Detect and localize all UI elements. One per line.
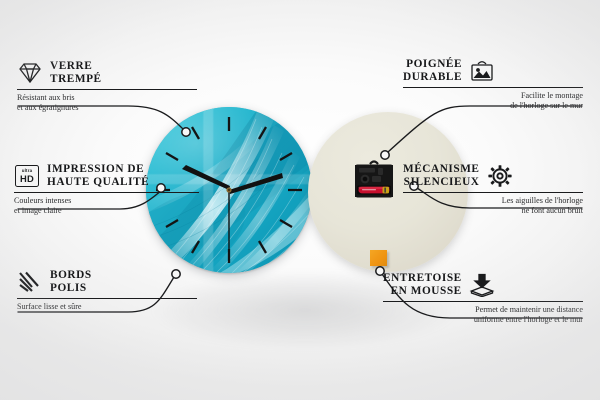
feature-rule	[17, 89, 197, 90]
feature-impression-haute-qualite: ultra HD IMPRESSION DE HAUTE QUALITÉ Cou…	[14, 163, 199, 215]
feature-desc-line2: ne font aucun bruit	[522, 206, 583, 215]
feature-title-line1: POIGNÉE	[406, 58, 462, 70]
connector-poignee	[388, 106, 582, 152]
feature-rule	[14, 192, 199, 193]
feature-verre-trempe: VERRE TREMPÉ Résistant aux bris et aux é…	[17, 60, 197, 112]
feature-desc-line1: Couleurs intenses	[14, 196, 71, 205]
feature-bords-polis: BORDS POLIS Surface lisse et sûre	[17, 269, 197, 312]
feature-rule	[17, 298, 197, 299]
diamond-icon	[17, 60, 43, 86]
ultra-hd-badge-icon: ultra HD	[14, 163, 40, 189]
feature-desc-line1: Permet de maintenir une distance	[475, 305, 583, 314]
feature-title-line2: DURABLE	[403, 71, 462, 83]
feature-description: Couleurs intenses et image claire	[14, 196, 199, 215]
feature-title-line2: TREMPÉ	[50, 73, 102, 85]
feature-description: Surface lisse et sûre	[17, 302, 197, 312]
feature-description: Résistant aux bris et aux égratignures	[17, 93, 197, 112]
hd-badge-main-label: HD	[20, 174, 34, 183]
feature-entretoise-en-mousse: ENTRETOISE EN MOUSSE Permet de maintenir…	[383, 272, 583, 324]
feature-desc-line2: et image claire	[14, 206, 62, 215]
feature-title-line2: EN MOUSSE	[391, 285, 462, 297]
infographic-canvas: VERRE TREMPÉ Résistant aux bris et aux é…	[0, 0, 600, 400]
feature-title-line2: POLIS	[50, 282, 87, 294]
feature-title: MÉCANISME SILENCIEUX	[403, 163, 480, 188]
feature-title-line1: VERRE	[50, 60, 92, 72]
marker-poignee	[381, 151, 389, 159]
feature-desc-line2: de l'horloge sur le mur	[510, 101, 583, 110]
feature-desc-line2: et aux égratignures	[17, 103, 79, 112]
polished-edges-icon	[17, 269, 43, 295]
feature-description: Permet de maintenir une distance uniform…	[383, 305, 583, 324]
feature-title: VERRE TREMPÉ	[50, 60, 102, 85]
feature-desc-line1: Résistant aux bris	[17, 93, 75, 102]
feature-title-line1: IMPRESSION DE	[47, 163, 144, 175]
feature-title-line2: SILENCIEUX	[404, 176, 480, 188]
gear-icon	[487, 163, 513, 189]
feature-rule	[403, 192, 583, 193]
feature-desc-line2: uniforme entre l'horloge et le mur	[474, 315, 583, 324]
feature-rule	[383, 301, 583, 302]
foam-spacer-arrow-icon	[469, 272, 495, 298]
feature-mecanisme-silencieux: MÉCANISME SILENCIEUX Les aiguilles de l'…	[403, 163, 583, 215]
feature-description: Facilite le montage de l'horloge sur le …	[403, 91, 583, 110]
feature-desc-line1: Surface lisse et sûre	[17, 302, 82, 311]
feature-description: Les aiguilles de l'horloge ne font aucun…	[403, 196, 583, 215]
feature-title: IMPRESSION DE HAUTE QUALITÉ	[47, 163, 149, 188]
feature-poignee-durable: POIGNÉE DURABLE Facilite le montage de l…	[403, 58, 583, 110]
feature-title: POIGNÉE DURABLE	[403, 58, 462, 83]
picture-hanger-icon	[469, 58, 495, 84]
feature-desc-line1: Facilite le montage	[521, 91, 583, 100]
feature-title-line1: ENTRETOISE	[383, 272, 462, 284]
feature-rule	[403, 87, 583, 88]
marker-verre-trempe	[182, 128, 190, 136]
feature-title-line2: HAUTE QUALITÉ	[47, 176, 149, 188]
feature-title: BORDS POLIS	[50, 269, 92, 294]
feature-title: ENTRETOISE EN MOUSSE	[383, 272, 462, 297]
feature-desc-line1: Les aiguilles de l'horloge	[502, 196, 583, 205]
feature-title-line1: BORDS	[50, 269, 92, 281]
feature-title-line1: MÉCANISME	[403, 163, 480, 175]
